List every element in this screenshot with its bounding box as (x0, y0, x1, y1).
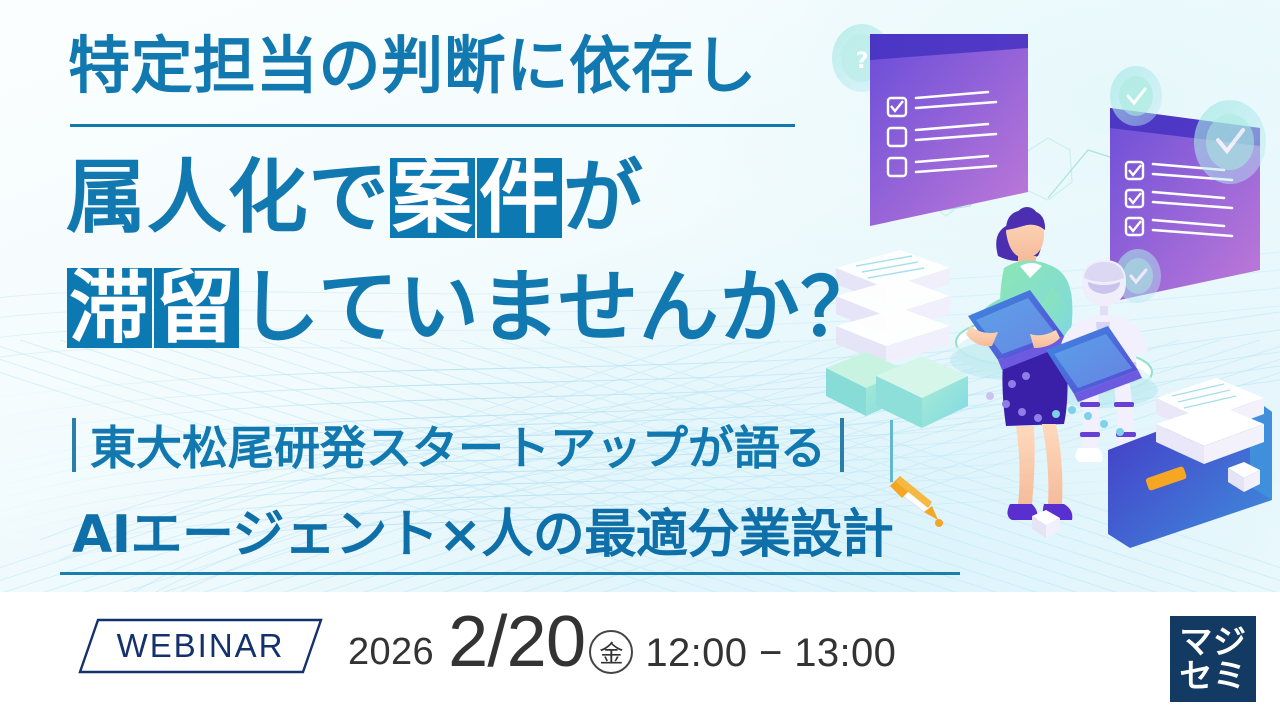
event-month-day: 2/20 (448, 606, 585, 678)
event-day-of-week: 金 (589, 630, 633, 674)
subtitle-divider-bottom (60, 572, 960, 575)
webinar-badge: WEBINAR (78, 618, 323, 674)
footer-bar: WEBINAR 2026 2/20 金 12:00 − 13:00 マジ セミ (0, 600, 1280, 720)
subtitle-line-1-row: 東大松尾研発スタートアップが語る (72, 412, 972, 478)
headline-highlight-tai: 滞 (67, 268, 152, 348)
subtitle-block: 東大松尾研発スタートアップが語る AIエージェント×人の最適分業設計 (72, 412, 972, 567)
subtitle-line-2: AIエージェント×人の最適分業設計 (72, 492, 972, 567)
check-bubble (1194, 100, 1266, 184)
headline-line-2: 属人化で案件が (66, 158, 644, 238)
headline-line-2-suffix: が (563, 151, 644, 244)
headline-line-3: 滞留していませんか？ (66, 268, 881, 348)
headline-highlight-ryu: 留 (154, 268, 239, 348)
check-bubble (1110, 66, 1162, 126)
logo-line-1: マジ (1179, 625, 1246, 659)
event-year: 2026 (348, 631, 434, 674)
majisemi-logo: マジ セミ (1170, 616, 1256, 702)
webinar-banner: ? ? ? (0, 0, 1280, 720)
subtitle-line-1: 東大松尾研発スタートアップが語る (90, 412, 826, 478)
logo-line-2: セミ (1179, 659, 1246, 693)
headline-divider-top (70, 124, 795, 127)
headline-highlight-ken: 件 (477, 158, 562, 238)
headline-line-2-prefix: 属人化で (66, 151, 389, 244)
headline-line-3-suffix: していませんか？ (240, 261, 882, 354)
webinar-badge-label: WEBINAR (78, 618, 323, 674)
subtitle-bar-left-icon (72, 418, 76, 472)
subtitle-bar-right-icon (840, 418, 844, 472)
headline-block: 特定担当の判断に依存し 属人化で案件が 滞留していませんか？ 東大松尾研発スター… (0, 0, 1010, 600)
headline-highlight-an: 案 (390, 158, 475, 238)
event-time-range: 12:00 − 13:00 (645, 631, 896, 676)
event-datetime: 2026 2/20 金 12:00 − 13:00 (348, 606, 896, 678)
headline-line-1: 特定担当の判断に依存し (68, 35, 757, 97)
